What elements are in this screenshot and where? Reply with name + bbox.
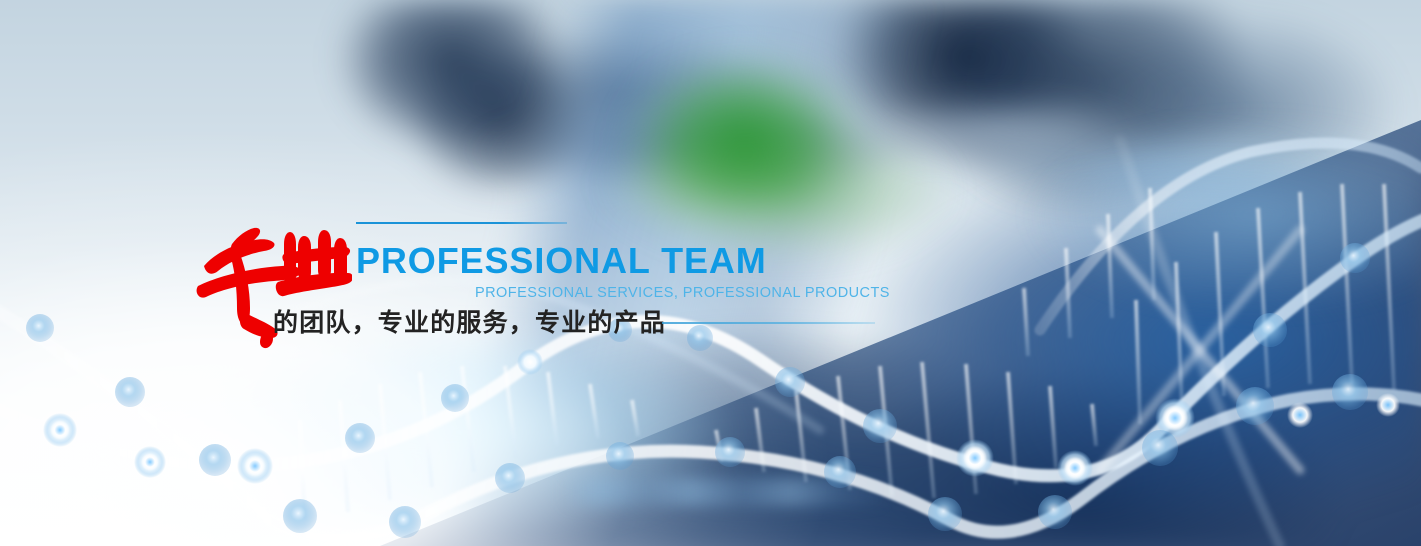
headline-professional-team: PROFESSIONAL TEAM	[356, 243, 767, 279]
helix-strand-cross	[1120, 140, 1280, 546]
helix-rungs	[300, 184, 1394, 520]
helix-strand-back-upper	[1040, 143, 1421, 330]
helix-cross-1	[1100, 230, 1300, 470]
background-blurred-text-smudge	[560, 478, 890, 506]
helix-bead-highlights	[50, 393, 1400, 479]
helix-cross-2	[1100, 230, 1300, 470]
decorative-rule-bottom	[662, 322, 875, 324]
subtitle-english: PROFESSIONAL SERVICES, PROFESSIONAL PROD…	[475, 286, 890, 301]
subtitle-chinese: 的团队，专业的服务，专业的产品	[273, 308, 666, 338]
decorative-rule-top	[356, 222, 567, 224]
promotional-banner: PROFESSIONAL TEAM PROFESSIONAL SERVICES,…	[0, 0, 1421, 546]
